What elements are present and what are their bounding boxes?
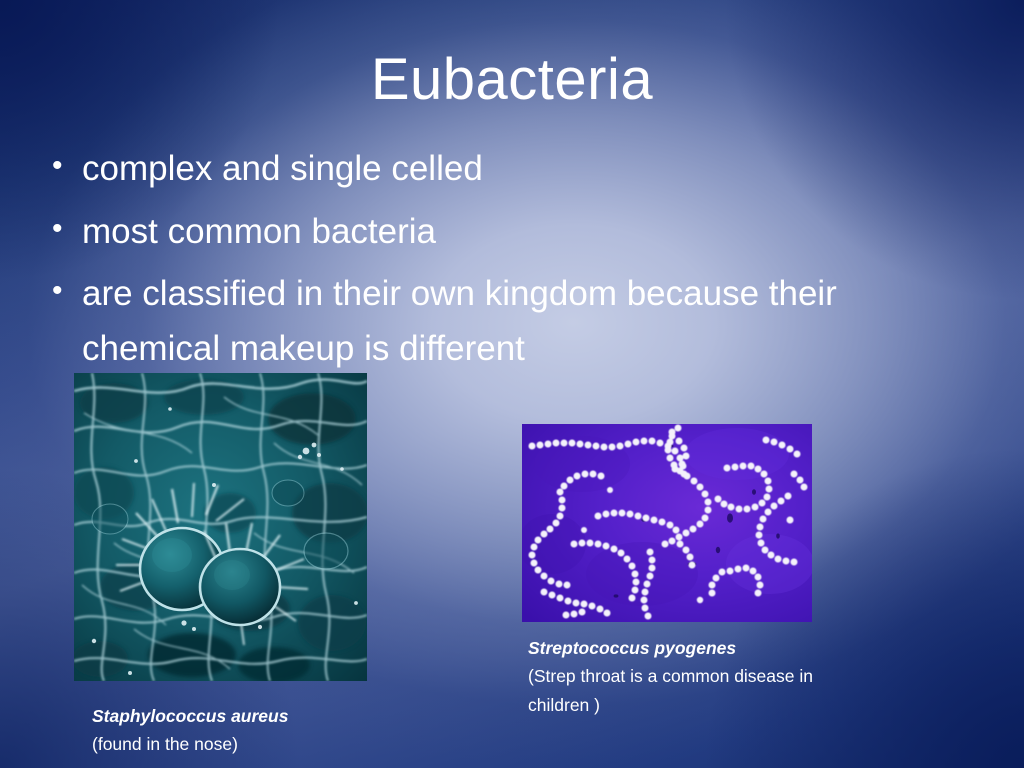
streptococcus-micrograph-icon xyxy=(522,424,812,622)
slide: Eubacteria • complex and single celled •… xyxy=(0,0,1024,768)
figure-image-staphylococcus xyxy=(74,373,367,681)
figure-caption-staphylococcus: Staphylococcus aureus (found in the nose… xyxy=(92,702,422,759)
staphylococcus-micrograph-icon xyxy=(74,373,367,681)
caption-scientific-name: Staphylococcus aureus xyxy=(92,702,422,730)
figure-caption-streptococcus: Streptococcus pyogenes (Strep throat is … xyxy=(528,634,828,719)
figure-image-streptococcus xyxy=(522,424,812,622)
bullet-icon: • xyxy=(52,205,82,254)
caption-scientific-name: Streptococcus pyogenes xyxy=(528,634,828,662)
bullet-icon: • xyxy=(52,142,82,191)
list-item: • are classified in their own kingdom be… xyxy=(52,267,952,376)
caption-note: (Strep throat is a common disease in chi… xyxy=(528,662,828,719)
caption-note: (found in the nose) xyxy=(92,730,422,758)
list-item: • complex and single celled xyxy=(52,142,952,197)
list-item-label: complex and single celled xyxy=(82,142,912,197)
page-title: Eubacteria xyxy=(0,48,1024,113)
bullet-list: • complex and single celled • most commo… xyxy=(52,142,952,384)
bullet-icon: • xyxy=(52,267,82,316)
list-item: • most common bacteria xyxy=(52,205,952,260)
list-item-label: most common bacteria xyxy=(82,205,912,260)
list-item-label: are classified in their own kingdom beca… xyxy=(82,267,912,376)
